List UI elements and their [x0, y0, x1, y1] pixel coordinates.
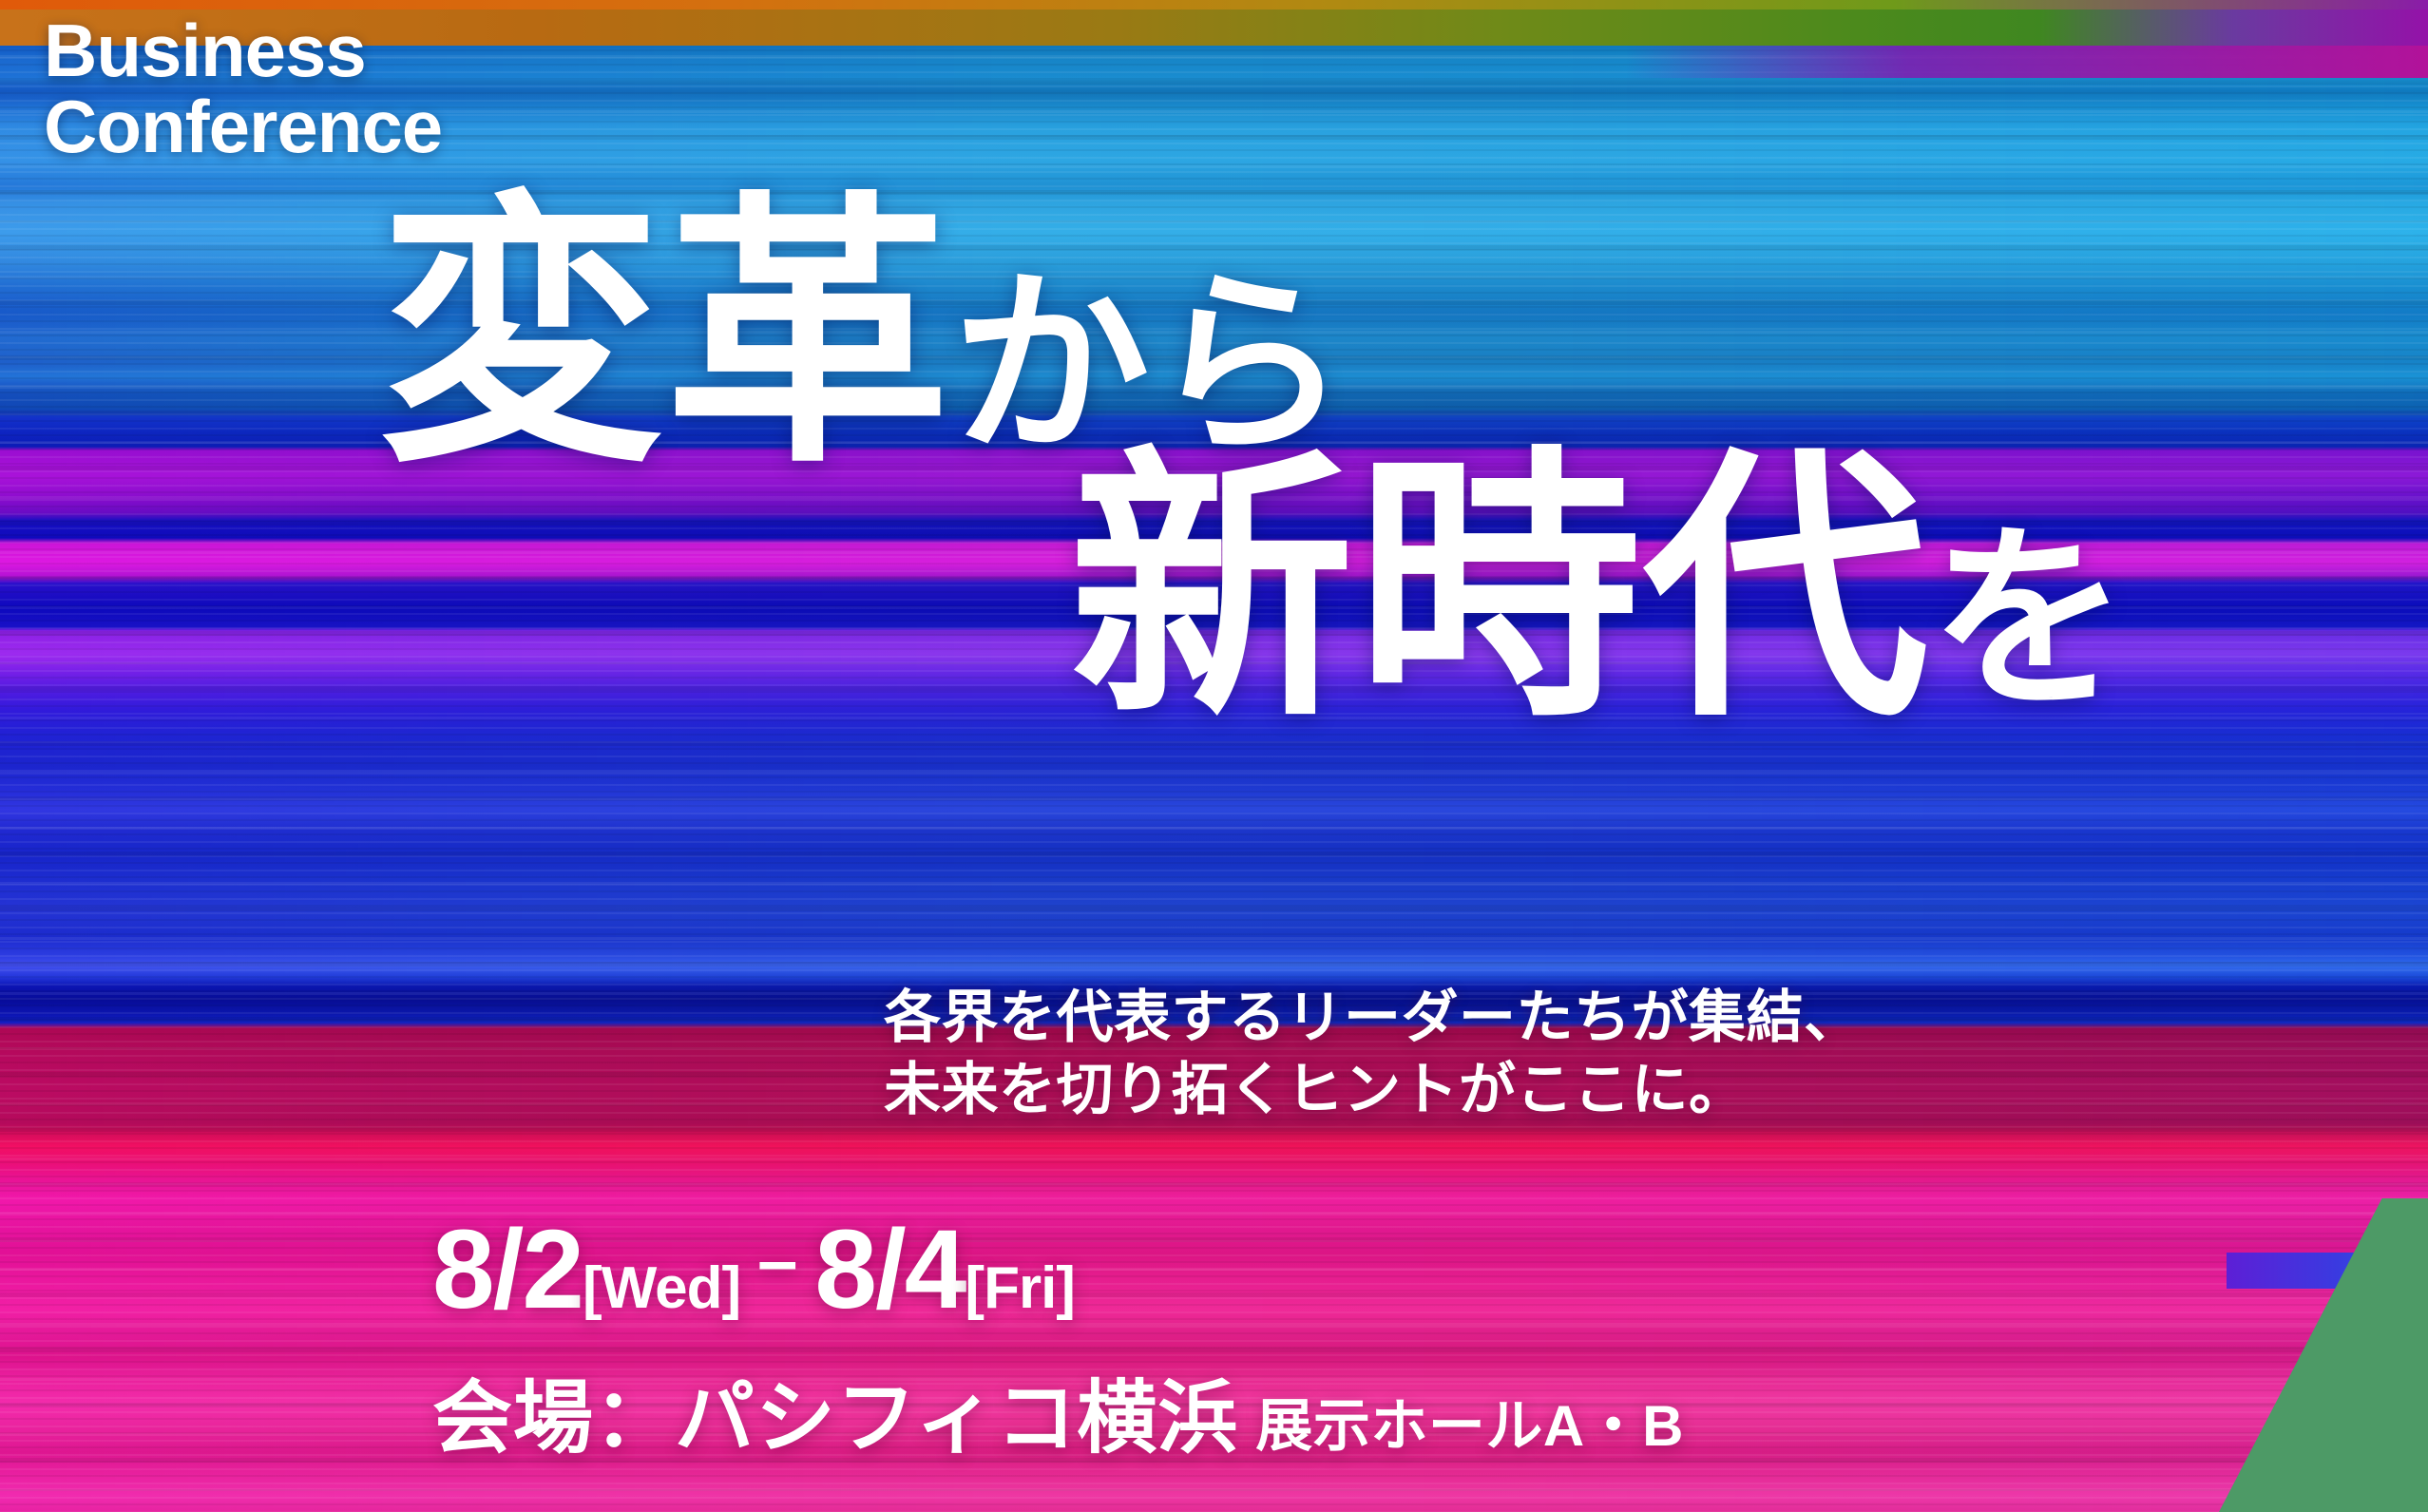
venue-name: 会場：パシフィコ横浜 — [432, 1373, 1238, 1463]
headline-line-2: 新時代を — [0, 450, 2129, 729]
poster-content: Business Conference 変革から 新時代を 各界を代表するリーダ… — [0, 0, 2428, 1512]
subcopy-line-1: 各界を代表するリーダーたちが集結、 — [884, 982, 1862, 1054]
eyebrow-business-conference: Business Conference — [44, 13, 442, 164]
subcopy: 各界を代表するリーダーたちが集結、 未来を切り拓くヒントがここに。 — [884, 982, 1862, 1125]
headline-line-1-kanji: 変革 — [378, 175, 952, 494]
venue-hall: 展示ホールA・B — [1238, 1394, 1684, 1458]
headline: 変革から 新時代を — [0, 195, 2129, 729]
eyebrow-line-2: Conference — [44, 89, 442, 165]
conference-key-visual: Business Conference 変革から 新時代を 各界を代表するリーダ… — [0, 0, 2428, 1512]
date-range-separator: – — [740, 1220, 814, 1301]
subcopy-line-2: 未来を切り拓くヒントがここに。 — [884, 1054, 1862, 1126]
event-dateline: 8/2[Wed]–8/4[Fri] — [432, 1205, 1075, 1334]
start-date: 8/2 — [432, 1207, 583, 1332]
end-date: 8/4 — [814, 1207, 965, 1332]
end-day-of-week: [Fri] — [965, 1255, 1075, 1321]
eyebrow-line-1: Business — [44, 9, 366, 92]
headline-line-2-kanji: 新時代 — [1069, 430, 1930, 749]
headline-line-2-kana: を — [1930, 510, 2129, 731]
start-day-of-week: [Wed] — [583, 1255, 740, 1321]
event-venue: 会場：パシフィコ横浜展示ホールA・B — [432, 1354, 1684, 1469]
